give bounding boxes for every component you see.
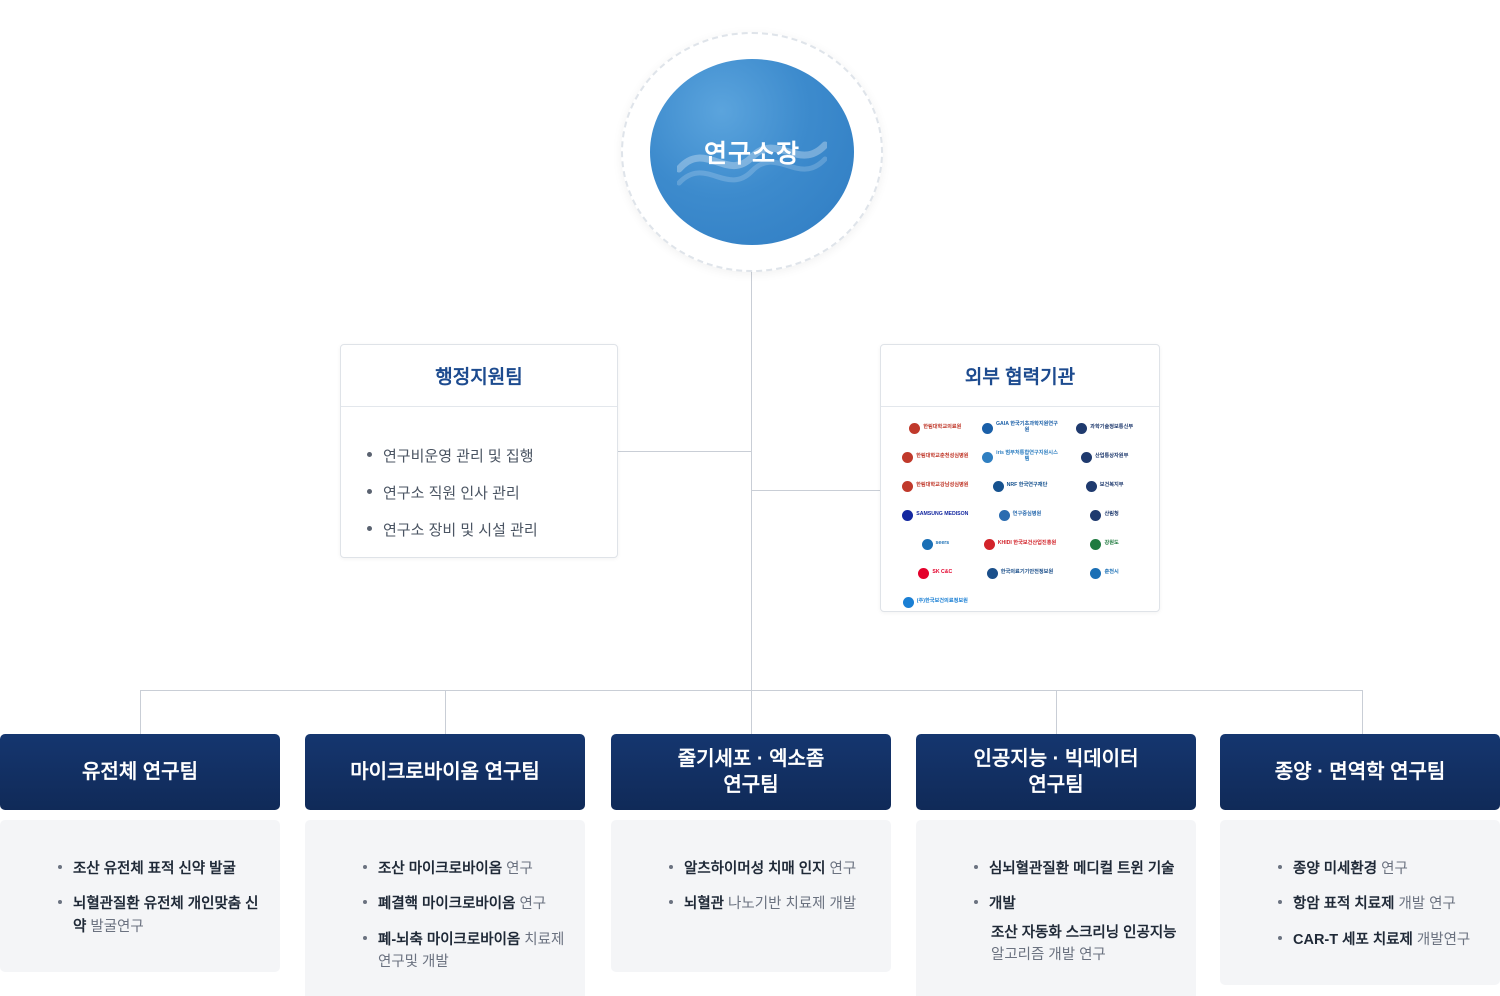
team-title: 인공지능 · 빅데이터연구팀 <box>916 734 1196 810</box>
list-item: 항암 표적 치료제 개발 연구 <box>1278 893 1482 915</box>
team-title: 유전체 연구팀 <box>0 734 280 810</box>
admin-support-panel: 행정지원팀 연구비운영 관리 및 집행 연구소 직원 인사 관리 연구소 장비 … <box>340 344 618 558</box>
partner-logo: seers <box>895 533 976 555</box>
partner-logo: 보건복지부 <box>1064 475 1145 497</box>
team-body: 알츠하이머성 치매 인지 연구뇌혈관 나노기반 치료제 개발 <box>611 820 891 972</box>
team-card-microbiome: 마이크로바이옴 연구팀 조산 마이크로바이옴 연구폐결핵 마이크로바이옴 연구폐… <box>305 734 585 996</box>
list-item: 심뇌혈관질환 메디컬 트윈 기술 <box>974 858 1178 880</box>
list-item: 조산 마이크로바이옴 연구 <box>363 858 567 880</box>
partner-logo: 산림청 <box>1064 504 1145 526</box>
partner-logo: iris 범부처통합연구지원시스템 <box>980 446 1061 468</box>
list-item: 폐-뇌축 마이크로바이옴 치료제 연구및 개발 <box>363 929 567 974</box>
org-chart: 연구소장 행정지원팀 연구비운영 관리 및 집행 연구소 직원 인사 관리 연구… <box>0 0 1500 996</box>
connector-team-5 <box>1362 690 1363 734</box>
partner-logo: SAMSUNG MEDISON <box>895 504 976 526</box>
director-node[interactable]: 연구소장 <box>621 32 883 272</box>
team-body: 조산 마이크로바이옴 연구폐결핵 마이크로바이옴 연구폐-뇌축 마이크로바이옴 … <box>305 820 585 996</box>
team-list: 조산 유전체 표적 신약 발굴뇌혈관질환 유전체 개인맞춤 신약 발굴연구 <box>18 858 262 938</box>
team-list: 심뇌혈관질환 메디컬 트윈 기술개발조산 자동화 스크리닝 인공지능 알고리즘 … <box>934 858 1178 967</box>
partner-logo: 연구중심병원 <box>980 504 1061 526</box>
list-item: 뇌혈관 나노기반 치료제 개발 <box>669 893 873 915</box>
team-card-oncology-immunology: 종양 · 면역학 연구팀 종양 미세환경 연구항암 표적 치료제 개발 연구CA… <box>1220 734 1500 985</box>
list-item: 뇌혈관질환 유전체 개인맞춤 신약 발굴연구 <box>58 893 262 938</box>
partner-logo: GAIA 한국기초과학지원연구원 <box>980 417 1061 439</box>
connector-director-down <box>751 272 752 690</box>
partner-logo-grid: 한림대학교의료원GAIA 한국기초과학지원연구원과학기술정보통신부한림대학교춘천… <box>895 417 1145 613</box>
list-item: 알츠하이머성 치매 인지 연구 <box>669 858 873 880</box>
partner-logo: 한림대학교의료원 <box>895 417 976 439</box>
team-card-stemcell-exosome: 줄기세포 · 엑소좀연구팀 알츠하이머성 치매 인지 연구뇌혈관 나노기반 치료… <box>611 734 891 972</box>
team-body: 종양 미세환경 연구항암 표적 치료제 개발 연구CAR-T 세포 치료제 개발… <box>1220 820 1500 985</box>
partner-logo: 한림대학교춘천성심병원 <box>895 446 976 468</box>
director-label: 연구소장 <box>704 134 800 170</box>
director-circle: 연구소장 <box>650 59 854 245</box>
partner-logo: 춘천시 <box>1064 562 1145 584</box>
partner-logo: 한국의료기기안전정보원 <box>980 562 1061 584</box>
partner-logo: 강원도 <box>1064 533 1145 555</box>
external-partners-title: 외부 협력기관 <box>881 345 1159 407</box>
list-item: 종양 미세환경 연구 <box>1278 858 1482 880</box>
connector-partner <box>751 490 881 491</box>
team-card-ai-bigdata: 인공지능 · 빅데이터연구팀 심뇌혈관질환 메디컬 트윈 기술개발조산 자동화 … <box>916 734 1196 996</box>
partner-logo: 과학기술정보통신부 <box>1064 417 1145 439</box>
partner-logo: NRF 한국연구재단 <box>980 475 1061 497</box>
list-item: 조산 유전체 표적 신약 발굴 <box>58 858 262 880</box>
connector-team-2 <box>445 690 446 734</box>
list-item: CAR-T 세포 치료제 개발연구 <box>1278 929 1482 951</box>
admin-support-list: 연구비운영 관리 및 집행 연구소 직원 인사 관리 연구소 장비 및 시설 관… <box>341 423 617 540</box>
team-body: 조산 유전체 표적 신약 발굴뇌혈관질환 유전체 개인맞춤 신약 발굴연구 <box>0 820 280 972</box>
team-list: 조산 마이크로바이옴 연구폐결핵 마이크로바이옴 연구폐-뇌축 마이크로바이옴 … <box>323 858 567 974</box>
connector-team-4 <box>1056 690 1057 734</box>
partner-logo: (주)한국보건의료정보원 <box>895 591 976 613</box>
partner-logo: 한림대학교강남성심병원 <box>895 475 976 497</box>
list-item: 개발조산 자동화 스크리닝 인공지능 알고리즘 개발 연구 <box>974 893 1178 966</box>
team-list: 알츠하이머성 치매 인지 연구뇌혈관 나노기반 치료제 개발 <box>629 858 873 916</box>
team-body: 심뇌혈관질환 메디컬 트윈 기술개발조산 자동화 스크리닝 인공지능 알고리즘 … <box>916 820 1196 996</box>
list-item: 연구소 장비 및 시설 관리 <box>367 519 597 540</box>
admin-support-title: 행정지원팀 <box>341 345 617 407</box>
partner-logo: SK C&C <box>895 562 976 584</box>
list-item: 폐결핵 마이크로바이옴 연구 <box>363 893 567 915</box>
connector-team-1 <box>140 690 141 734</box>
partner-logo: KHIDI 한국보건산업진흥원 <box>980 533 1061 555</box>
partner-logo: 산업통상자원부 <box>1064 446 1145 468</box>
external-partners-panel: 외부 협력기관 한림대학교의료원GAIA 한국기초과학지원연구원과학기술정보통신… <box>880 344 1160 612</box>
connector-admin <box>618 451 752 452</box>
team-title: 줄기세포 · 엑소좀연구팀 <box>611 734 891 810</box>
team-list: 종양 미세환경 연구항암 표적 치료제 개발 연구CAR-T 세포 치료제 개발… <box>1238 858 1482 951</box>
list-item: 연구소 직원 인사 관리 <box>367 482 597 503</box>
list-item: 연구비운영 관리 및 집행 <box>367 445 597 466</box>
connector-team-3 <box>751 690 752 734</box>
team-title: 마이크로바이옴 연구팀 <box>305 734 585 810</box>
partner-logo-area: 한림대학교의료원GAIA 한국기초과학지원연구원과학기술정보통신부한림대학교춘천… <box>881 407 1159 623</box>
team-title: 종양 · 면역학 연구팀 <box>1220 734 1500 810</box>
team-card-genome: 유전체 연구팀 조산 유전체 표적 신약 발굴뇌혈관질환 유전체 개인맞춤 신약… <box>0 734 280 972</box>
